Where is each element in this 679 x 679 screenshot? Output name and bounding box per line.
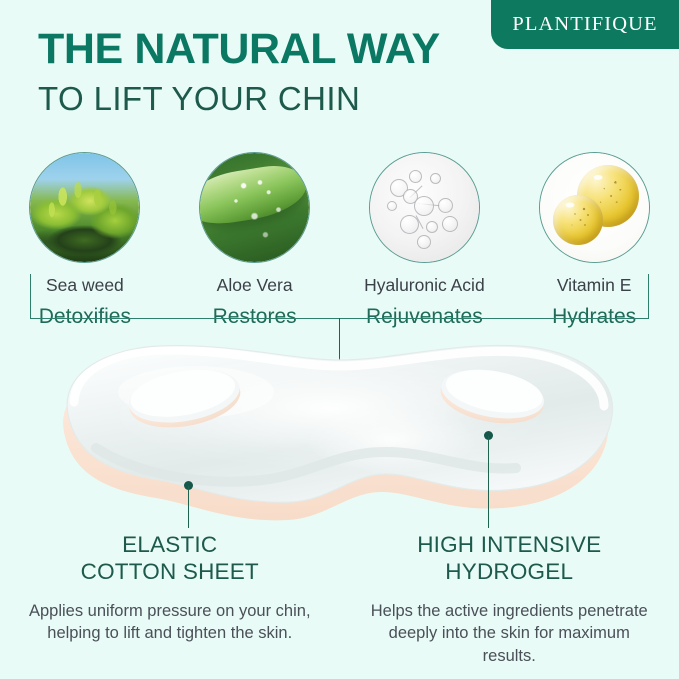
feature-title: ELASTIC COTTON SHEET [26,531,314,586]
feature-title-line-2: COTTON SHEET [26,558,314,585]
product-svg [0,330,679,545]
oil-droplets-icon [540,153,649,262]
feature-title: HIGH INTENSIVE HYDROGEL [366,531,654,586]
infographic-page: PLANTIFIQUE THE NATURAL WAY TO LIFT YOUR… [0,0,679,679]
aloe-leaf-icon [200,153,309,262]
page-title: THE NATURAL WAY [38,28,440,71]
ingredient-image-vitamin-e [539,152,650,263]
brand-badge: PLANTIFIQUE [491,0,679,49]
ingredient-image-sea-weed [29,152,140,263]
seaweed-icon [30,153,139,262]
callout-line-hydrogel [488,436,489,528]
brand-name: PLANTIFIQUE [512,14,657,36]
molecule-bubbles-icon [370,153,479,262]
ingredient-image-hyaluronic-acid [369,152,480,263]
feature-high-intensive-hydrogel: HIGH INTENSIVE HYDROGEL Helps the active… [340,531,679,667]
page-subtitle: TO LIFT YOUR CHIN [38,82,360,115]
callout-line-cotton-sheet [188,486,189,528]
product-image-chin-mask [0,330,679,545]
ingredient-image-aloe-vera [199,152,310,263]
ingredients-bracket [30,274,649,319]
feature-elastic-cotton-sheet: ELASTIC COTTON SHEET Applies uniform pre… [0,531,340,667]
feature-description: Applies uniform pressure on your chin, h… [26,600,314,645]
feature-title-line-1: ELASTIC [26,531,314,558]
feature-title-line-2: HYDROGEL [366,558,654,585]
feature-description: Helps the active ingredients penetrate d… [366,600,654,667]
features-row: ELASTIC COTTON SHEET Applies uniform pre… [0,531,679,667]
feature-title-line-1: HIGH INTENSIVE [366,531,654,558]
